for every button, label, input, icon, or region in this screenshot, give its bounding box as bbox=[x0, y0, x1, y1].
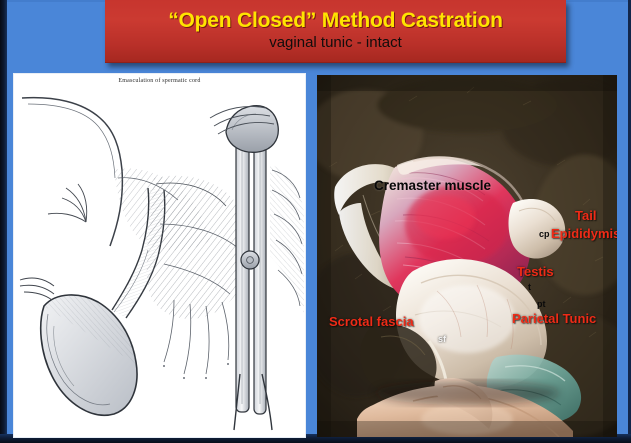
title-banner: “Open Closed” Method Castration vaginal … bbox=[105, 0, 566, 63]
marker-cp: cp bbox=[539, 230, 550, 239]
illustration-panel: Emasculation of spermatic cord bbox=[14, 74, 305, 437]
surgical-photo-panel: Cremaster muscle Tail Epididymis Testis … bbox=[317, 75, 617, 437]
slide-canvas: “Open Closed” Method Castration vaginal … bbox=[0, 0, 631, 443]
surgical-photograph bbox=[317, 75, 617, 437]
slide-title: “Open Closed” Method Castration bbox=[168, 10, 503, 32]
marker-pt: pt bbox=[537, 300, 546, 309]
frame-edge-left bbox=[0, 0, 7, 443]
label-cremaster-muscle: Cremaster muscle bbox=[374, 179, 491, 194]
slide-subtitle: vaginal tunic - intact bbox=[269, 35, 402, 52]
illustration-caption: Emasculation of spermatic cord bbox=[14, 78, 305, 84]
label-scrotal-fascia: Scrotal fascia bbox=[329, 315, 414, 329]
label-epididymis: Epididymis bbox=[551, 227, 617, 241]
label-parietal-tunic: Parietal Tunic bbox=[512, 312, 596, 326]
label-testis: Testis bbox=[517, 265, 554, 279]
label-tail: Tail bbox=[575, 209, 596, 223]
marker-sf: sf bbox=[438, 335, 446, 344]
emasculator-illustration bbox=[14, 74, 305, 437]
marker-t: t bbox=[528, 283, 531, 292]
